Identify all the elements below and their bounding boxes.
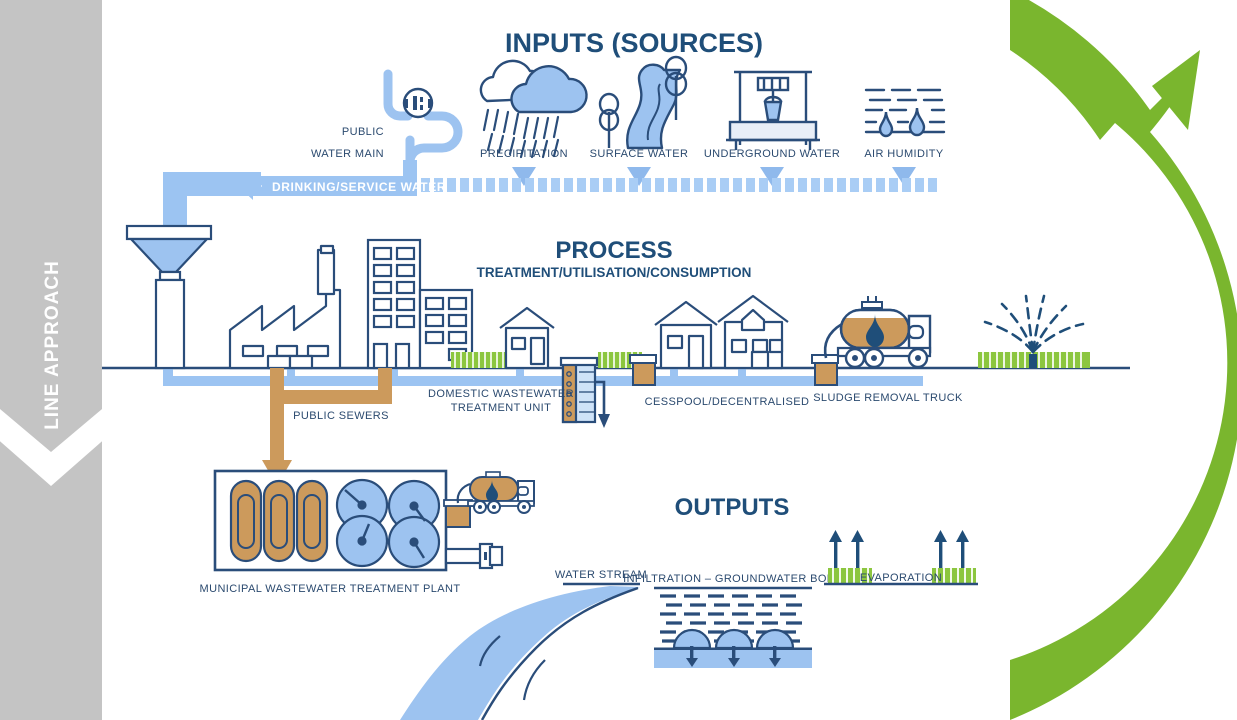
label-domestic-unit-l1: DOMESTIC WASTEWATER <box>428 388 574 400</box>
label-domestic-unit-l2: TREATMENT UNIT <box>451 402 552 414</box>
label-public-sewers: PUBLIC SEWERS <box>293 410 389 422</box>
pipe-meter-dial-icon <box>404 89 432 117</box>
input-label-surface-water: SURFACE WATER <box>590 148 689 160</box>
input-label-underground-water: UNDERGROUND WATER <box>704 148 840 160</box>
recycling-approach-label: RECYCLING – CIRCULAR APPROACH <box>1153 209 1172 547</box>
drinking-service-water-label: DRINKING/SERVICE WATER <box>272 180 446 194</box>
treatment-plant-icon <box>215 471 446 570</box>
input-label-public-water-main-l1: PUBLIC <box>342 126 384 138</box>
sludge-pit-icon <box>812 355 838 385</box>
process-title: PROCESS <box>555 237 672 264</box>
outputs-title: OUTPUTS <box>675 494 790 521</box>
label-infiltration: INFILTRATION – GROUNDWATER BODY <box>623 573 843 585</box>
input-label-precipitation: PRECIPITATION <box>480 148 568 160</box>
input-label-air-humidity: AIR HUMIDITY <box>864 148 944 160</box>
grass-strip-1 <box>451 352 513 368</box>
inputs-title: INPUTS (SOURCES) <box>505 28 763 58</box>
label-sludge-truck: SLUDGE REMOVAL TRUCK <box>813 392 963 404</box>
process-subtitle: TREATMENT/UTILISATION/CONSUMPTION <box>477 265 752 280</box>
label-evaporation: EVAPORATION <box>860 572 942 584</box>
well-bucket-icon <box>726 72 820 150</box>
line-approach-label: LINE APPROACH <box>42 260 63 430</box>
label-cesspool: CESSPOOL/DECENTRALISED <box>645 396 810 408</box>
input-label-public-water-main-l2: WATER MAIN <box>311 148 384 160</box>
cesspool-tank-icon <box>630 355 656 385</box>
label-treatment-plant: MUNICIPAL WASTEWATER TREATMENT PLANT <box>200 583 461 595</box>
infographic-canvas: LINE APPROACH RECYCLING – CIRCULAR APPRO… <box>0 0 1237 720</box>
